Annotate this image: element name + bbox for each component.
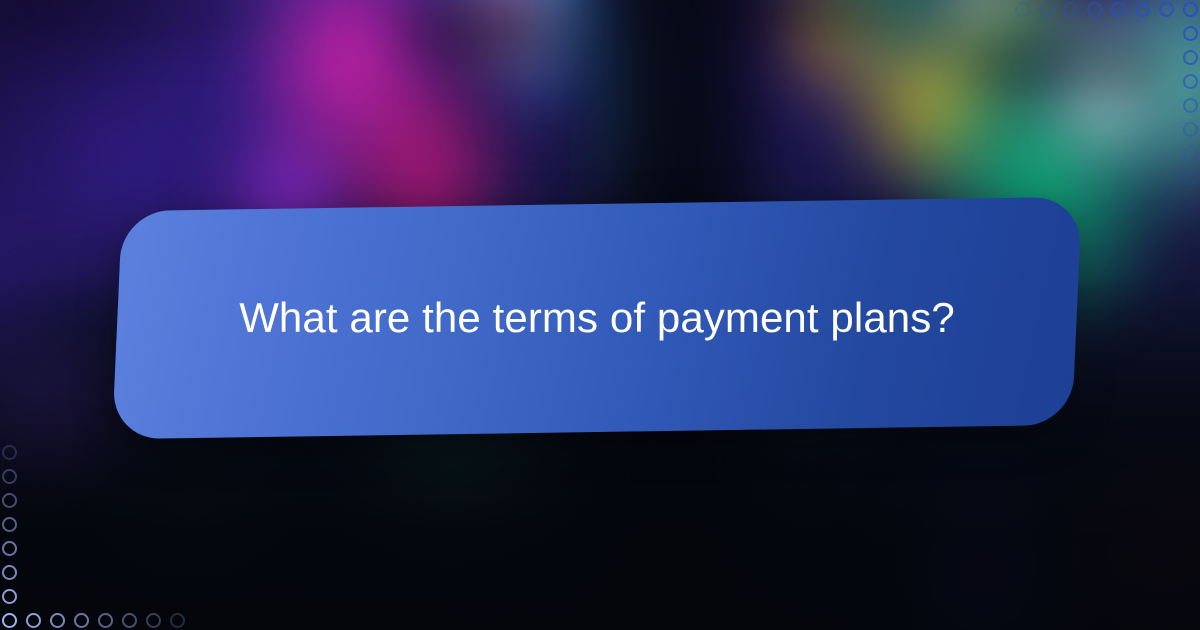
question-card: What are the terms of payment plans? (112, 197, 1082, 439)
card-layer: What are the terms of payment plans? (0, 0, 1200, 630)
question-card-body: What are the terms of payment plans? (117, 204, 1077, 432)
social-card-canvas: What are the terms of payment plans? (0, 0, 1200, 630)
question-text: What are the terms of payment plans? (239, 292, 955, 345)
